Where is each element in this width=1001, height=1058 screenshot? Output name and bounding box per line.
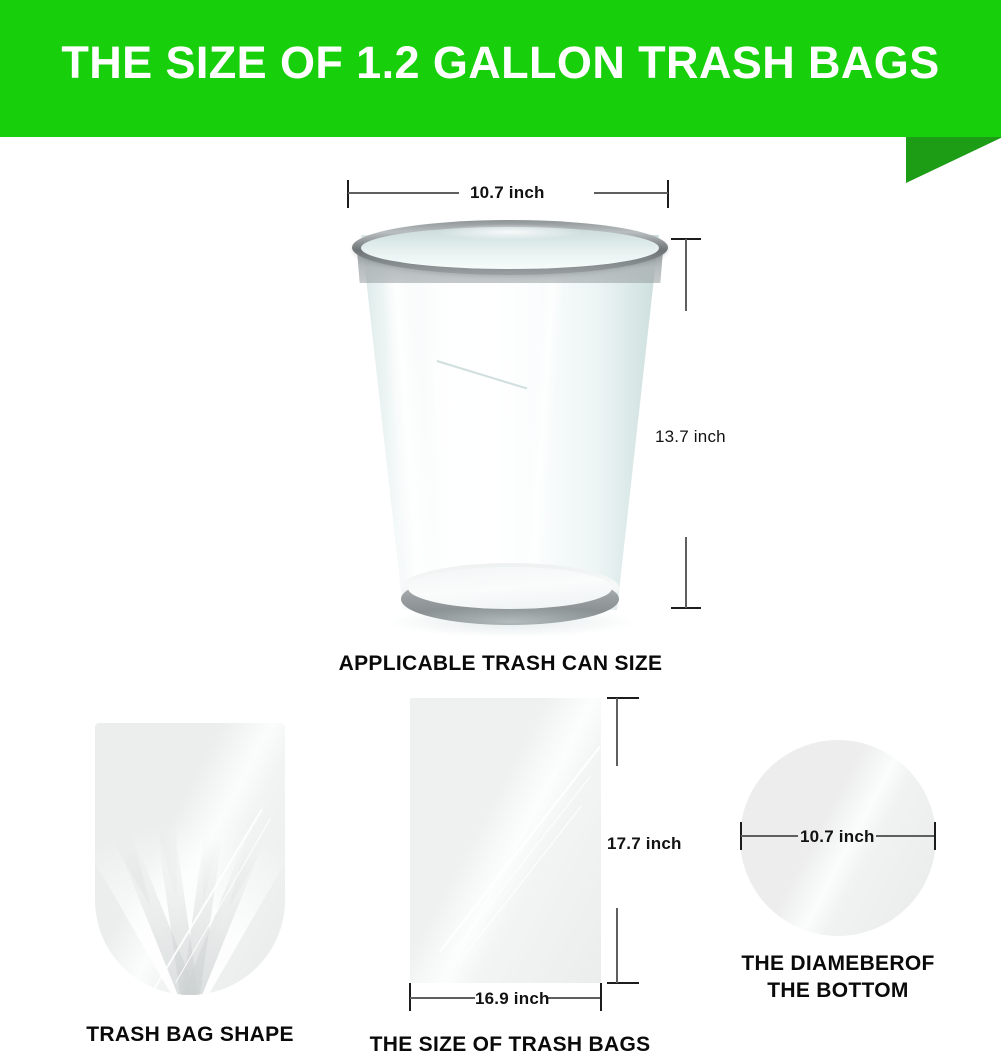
ribbon-fold-decoration — [906, 137, 1001, 183]
dimension-line-left — [348, 192, 459, 194]
disc-diameter-label: 10.7 inch — [800, 827, 875, 847]
dimension-line-upper — [685, 239, 687, 311]
dimension-line-right — [594, 192, 668, 194]
trash-bag-shape-caption: TRASH BAG SHAPE — [0, 1022, 380, 1048]
can-width-label: 10.7 inch — [470, 183, 545, 203]
flat-bag-streak-2 — [449, 776, 592, 958]
flat-bag-height-label: 17.7 inch — [607, 834, 682, 854]
infographic-page: THE SIZE OF 1.2 GALLON TRASH BAGS 10.7 i… — [0, 0, 1001, 1058]
dimension-line-upper — [616, 698, 618, 766]
dimension-line-right — [546, 997, 600, 999]
trash-bag-shape-illustration — [95, 723, 285, 995]
dimension-line-left — [410, 997, 475, 999]
bottom-disc-caption-line1: THE DIAMEBEROF — [713, 950, 963, 977]
can-base-inner-surface — [408, 567, 612, 609]
flat-bag-streak-3 — [458, 805, 582, 963]
flat-bag-width-label: 16.9 inch — [475, 989, 550, 1009]
dimension-line-lower — [685, 537, 687, 608]
can-rim-highlight — [435, 224, 585, 240]
header-banner: THE SIZE OF 1.2 GALLON TRASH BAGS — [0, 0, 1001, 137]
dimension-line-lower — [616, 908, 618, 983]
dimension-end-cap-bottom — [607, 982, 639, 984]
dimension-end-cap-left — [347, 180, 349, 208]
trash-can-illustration — [340, 215, 680, 625]
bottom-disc-caption-line2: THE BOTTOM — [713, 977, 963, 1004]
dimension-end-cap-right — [600, 983, 602, 1011]
bottom-disc-caption: THE DIAMEBEROF THE BOTTOM — [713, 950, 963, 1005]
dimension-end-cap-right — [667, 180, 669, 208]
dimension-line-right — [876, 835, 934, 837]
dimension-end-cap-right — [934, 822, 936, 850]
flat-bag-streak-1 — [439, 746, 601, 952]
can-highlight-diagonal — [429, 335, 521, 495]
dimension-line-left — [741, 835, 798, 837]
can-height-label: 13.7 inch — [655, 427, 726, 447]
flat-bag-caption: THE SIZE OF TRASH BAGS — [360, 1032, 660, 1058]
flat-trash-bag-illustration — [410, 698, 601, 983]
trash-can-caption: APPLICABLE TRASH CAN SIZE — [0, 651, 1001, 677]
can-drop-shadow — [388, 607, 634, 637]
dimension-end-cap-top — [607, 697, 639, 699]
page-title: THE SIZE OF 1.2 GALLON TRASH BAGS — [0, 0, 1001, 137]
